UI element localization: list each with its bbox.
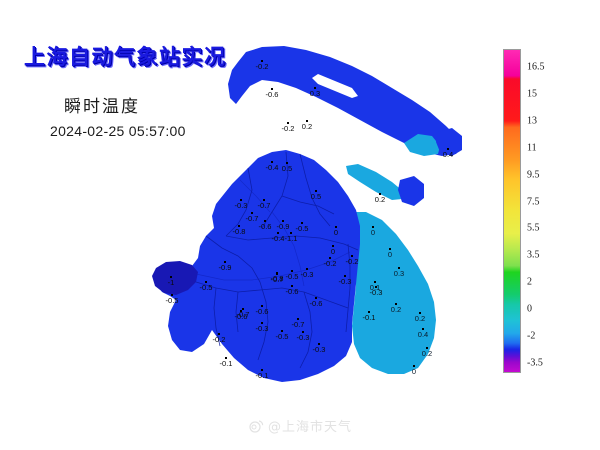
colorbar-tick: 5.5: [527, 223, 540, 234]
colorbar-tick: -3.5: [527, 358, 543, 369]
temperature-colorbar: 16.51513119.57.55.53.520-2-3.5: [503, 49, 598, 375]
colorbar-tick: 13: [527, 115, 537, 126]
colorbar-tick: 3.5: [527, 250, 540, 261]
colorbar-tick: -2: [527, 331, 535, 342]
changxing-island-region: [346, 164, 404, 200]
hengsha-island-region: [398, 176, 424, 206]
colorbar-tick: 0: [527, 304, 532, 315]
pudong-coastal-cyan-region: [350, 212, 436, 374]
watermark: @上海市天气: [0, 416, 600, 438]
colorbar-tick: 15: [527, 88, 537, 99]
watermark-text: @上海市天气: [268, 420, 352, 435]
timestamp-label: 2024-02-25 05:57:00: [50, 123, 186, 139]
weather-map-screenshot: 上海自动气象站实况 瞬时温度 2024-02-25 05:57:00 -0.2-…: [0, 0, 600, 450]
weibo-icon: [248, 418, 264, 438]
colorbar-tick: 11: [527, 142, 537, 153]
colorbar-tick: 9.5: [527, 169, 540, 180]
colorbar-gradient: [503, 49, 521, 373]
colorbar-tick: 16.5: [527, 62, 545, 73]
map-subtitle: 瞬时温度: [64, 92, 140, 117]
colorbar-tick: 7.5: [527, 196, 540, 207]
page-title: 上海自动气象站实况: [24, 41, 227, 71]
colorbar-tick: 2: [527, 277, 532, 288]
